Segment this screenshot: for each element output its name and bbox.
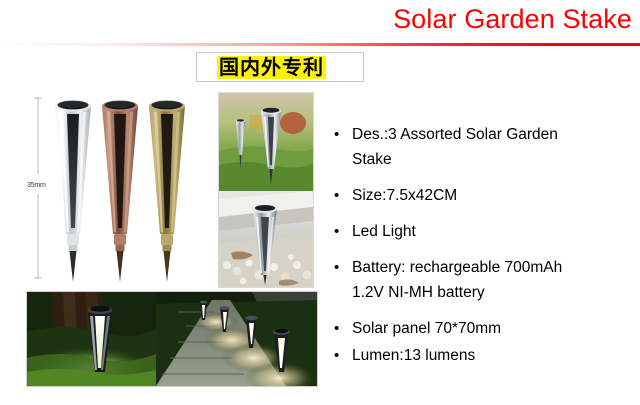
- spec-description-line1: Des.:3 Assorted Solar Garden: [352, 126, 558, 143]
- bullet-icon: •: [334, 316, 339, 341]
- spec-description-line2: Stake: [352, 147, 636, 172]
- title-divider-rule: [0, 43, 640, 46]
- photo-night-tree-art: [27, 292, 156, 386]
- spec-size-value: Size:7.5x42CM: [352, 187, 457, 204]
- bullet-icon: •: [334, 343, 339, 368]
- product-image-collage: 35mm: [26, 86, 319, 387]
- spec-battery-line1: Battery: rechargeable 700mAh: [352, 259, 562, 276]
- photo-lit-path: [156, 292, 317, 386]
- photo-stake-in-gravel: [219, 191, 313, 287]
- night-photo-row: [26, 291, 318, 387]
- spec-lumen-value: Lumen:13 lumens: [352, 347, 475, 364]
- product-variants-panel: 35mm: [26, 86, 214, 288]
- spec-solar-panel-value: Solar panel 70*70mm: [352, 320, 501, 337]
- photo-night-path-art: [156, 292, 317, 386]
- patent-badge-label: 国内外专利: [217, 56, 326, 79]
- photo-grass-art: [219, 93, 313, 191]
- silver-stake-graphic: [55, 101, 91, 282]
- spec-item-size: • Size:7.5x42CM: [330, 183, 636, 208]
- spec-led-value: Led Light: [352, 223, 416, 240]
- photo-lit-stake-by-tree: [27, 292, 156, 386]
- product-spec-list: • Des.:3 Assorted Solar Garden Stake • S…: [330, 122, 636, 370]
- product-photo-column: [218, 92, 314, 288]
- three-stake-illustration: [26, 86, 214, 288]
- dimension-label: 35mm: [27, 182, 46, 189]
- brass-stake-graphic: [149, 101, 185, 282]
- photo-stakes-in-grass: [219, 93, 313, 191]
- bullet-icon: •: [334, 183, 339, 208]
- spec-item-description: • Des.:3 Assorted Solar Garden Stake: [330, 122, 636, 172]
- bullet-icon: •: [334, 122, 339, 147]
- spec-item-lumen: • Lumen:13 lumens: [330, 343, 636, 368]
- spec-item-solar-panel: • Solar panel 70*70mm: [330, 316, 636, 341]
- spec-item-battery: • Battery: rechargeable 700mAh 1.2V NI-M…: [330, 255, 636, 305]
- patent-badge: 国内外专利: [196, 52, 364, 82]
- bullet-icon: •: [334, 255, 339, 280]
- bullet-icon: •: [334, 219, 339, 244]
- spec-item-led: • Led Light: [330, 219, 636, 244]
- copper-stake-graphic: [102, 101, 138, 282]
- photo-gravel-art: [219, 191, 313, 287]
- page-title: Solar Garden Stake: [393, 2, 632, 36]
- spec-battery-line2: 1.2V NI-MH battery: [352, 280, 636, 305]
